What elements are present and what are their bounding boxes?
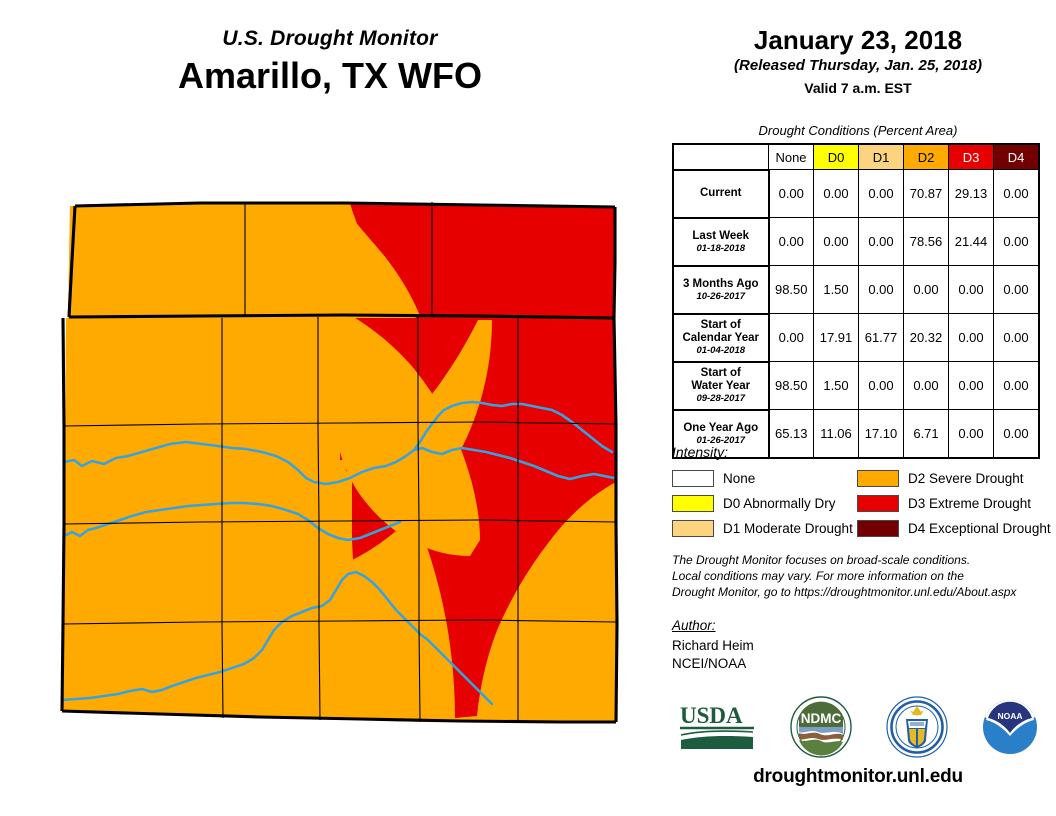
row-label-date: 01-18-2018 <box>676 243 766 254</box>
table-cell: 78.56 <box>904 218 949 266</box>
legend-swatch <box>672 495 714 512</box>
svg-text:USDA: USDA <box>680 703 743 728</box>
table-cell: 0.00 <box>814 170 859 218</box>
table-cell: 29.13 <box>949 170 994 218</box>
legend-entry-none: None <box>672 470 857 487</box>
table-cell: 0.00 <box>994 314 1040 362</box>
legend-swatch <box>672 520 714 537</box>
legend-label: None <box>723 471 755 486</box>
legend-entry-d4: D4 Exceptional Drought <box>857 520 1042 537</box>
table-cell: 17.91 <box>814 314 859 362</box>
table-col-header-d3: D3 <box>949 144 994 170</box>
table-row-label: 3 Months Ago10-26-2017 <box>673 266 769 314</box>
table-col-header-d2: D2 <box>904 144 949 170</box>
table-cell: 0.00 <box>769 218 814 266</box>
legend-swatch <box>857 495 899 512</box>
row-label-date: 01-04-2018 <box>676 345 766 356</box>
disclaimer-line-2: Local conditions may vary. For more info… <box>672 568 1052 584</box>
row-label-date: 09-28-2017 <box>676 393 766 404</box>
drought-conditions-table-wrap: NoneD0D1D2D3D4 Current0.000.000.0070.872… <box>672 143 1032 459</box>
disclaimer-line-1: The Drought Monitor focuses on broad-sca… <box>672 552 1052 568</box>
author-org: NCEI/NOAA <box>672 655 746 673</box>
table-cell: 98.50 <box>769 362 814 410</box>
row-label-date: 10-26-2017 <box>676 291 766 302</box>
table-header-row: NoneD0D1D2D3D4 <box>673 144 1039 170</box>
row-label-text: Last Week <box>692 230 749 242</box>
drought-map <box>0 0 660 816</box>
table-cell: 11.06 <box>814 410 859 458</box>
table-cell: 98.50 <box>769 266 814 314</box>
table-cell: 0.00 <box>949 266 994 314</box>
legend-row: NoneD2 Severe Drought <box>672 466 1042 491</box>
legend-swatch <box>672 470 714 487</box>
legend-label: D0 Abnormally Dry <box>723 496 836 511</box>
release-header: January 23, 2018 (Released Thursday, Jan… <box>660 24 1056 98</box>
svg-text:NOAA: NOAA <box>998 711 1023 721</box>
legend-entry-d0: D0 Abnormally Dry <box>672 495 857 512</box>
released-note: (Released Thursday, Jan. 25, 2018) <box>660 56 1056 76</box>
row-label-text: Start ofWater Year <box>691 367 750 392</box>
legend-label: D1 Moderate Drought <box>723 521 853 536</box>
disclaimer-text: The Drought Monitor focuses on broad-sca… <box>672 552 1052 600</box>
table-row: Current0.000.000.0070.8729.130.00 <box>673 170 1039 218</box>
row-label-text: 3 Months Ago <box>683 278 759 290</box>
table-body: Current0.000.000.0070.8729.130.00Last We… <box>673 170 1039 458</box>
table-cell: 20.32 <box>904 314 949 362</box>
table-cell: 1.50 <box>814 362 859 410</box>
usda-logo: USDA <box>677 701 757 753</box>
ndmc-logo: NDMC <box>790 696 852 758</box>
table-cell: 1.50 <box>814 266 859 314</box>
table-cell: 0.00 <box>859 218 904 266</box>
legend-swatch <box>857 520 899 537</box>
legend-entry-d1: D1 Moderate Drought <box>672 520 857 537</box>
table-cell: 0.00 <box>949 314 994 362</box>
legend-entry-d3: D3 Extreme Drought <box>857 495 1042 512</box>
valid-note: Valid 7 a.m. EST <box>660 78 1056 98</box>
table-col-header-d1: D1 <box>859 144 904 170</box>
noaa-logo: NOAA <box>981 698 1039 756</box>
table-cell: 65.13 <box>769 410 814 458</box>
legend-swatch <box>857 470 899 487</box>
table-row: Last Week01-18-20180.000.000.0078.5621.4… <box>673 218 1039 266</box>
table-row-label: Start ofCalendar Year01-04-2018 <box>673 314 769 362</box>
table-cell: 0.00 <box>994 266 1040 314</box>
table-cell: 0.00 <box>904 266 949 314</box>
table-cell: 0.00 <box>994 410 1040 458</box>
table-row: Start ofCalendar Year01-04-20180.0017.91… <box>673 314 1039 362</box>
table-cell: 61.77 <box>859 314 904 362</box>
row-label-text: One Year Ago <box>683 422 758 434</box>
author-label: Author: <box>672 618 716 633</box>
release-date: January 23, 2018 <box>660 24 1056 56</box>
table-cell: 0.00 <box>769 314 814 362</box>
table-col-header-d0: D0 <box>814 144 859 170</box>
table-row: 3 Months Ago10-26-201798.501.500.000.000… <box>673 266 1039 314</box>
legend-label: D3 Extreme Drought <box>908 496 1031 511</box>
intensity-label: Intensity: <box>672 444 728 460</box>
table-cell: 0.00 <box>904 362 949 410</box>
table-corner-cell <box>673 144 769 170</box>
legend-label: D2 Severe Drought <box>908 471 1024 486</box>
table-row-label: Start ofWater Year09-28-2017 <box>673 362 769 410</box>
site-url: droughtmonitor.unl.edu <box>660 766 1056 788</box>
legend-label: D4 Exceptional Drought <box>908 521 1051 536</box>
legend-row: D1 Moderate DroughtD4 Exceptional Drough… <box>672 516 1042 541</box>
disclaimer-line-3: Drought Monitor, go to https://droughtmo… <box>672 584 1052 600</box>
page-title: Amarillo, TX WFO <box>0 54 660 98</box>
table-cell: 0.00 <box>859 362 904 410</box>
table-col-header-none: None <box>769 144 814 170</box>
table-cell: 21.44 <box>949 218 994 266</box>
table-cell: 0.00 <box>949 362 994 410</box>
author-name: Richard Heim <box>672 637 754 655</box>
svg-text:NDMC: NDMC <box>801 711 842 726</box>
table-cell: 0.00 <box>994 170 1040 218</box>
table-cell: 0.00 <box>949 410 994 458</box>
legend-entry-d2: D2 Severe Drought <box>857 470 1042 487</box>
drought-conditions-table: NoneD0D1D2D3D4 Current0.000.000.0070.872… <box>672 143 1040 459</box>
table-row-label: Current <box>673 170 769 218</box>
table-cell: 70.87 <box>904 170 949 218</box>
table-cell: 17.10 <box>859 410 904 458</box>
usdc-seal <box>886 696 948 758</box>
table-cell: 0.00 <box>994 362 1040 410</box>
table-cell: 0.00 <box>769 170 814 218</box>
table-row: Start ofWater Year09-28-201798.501.500.0… <box>673 362 1039 410</box>
partner-logos: USDA NDMC NOAA <box>660 696 1056 758</box>
table-cell: 0.00 <box>859 170 904 218</box>
table-caption: Drought Conditions (Percent Area) <box>660 123 1056 138</box>
map-title-block: U.S. Drought Monitor Amarillo, TX WFO <box>0 26 660 98</box>
table-col-header-d4: D4 <box>994 144 1040 170</box>
table-cell: 6.71 <box>904 410 949 458</box>
table-cell: 0.00 <box>859 266 904 314</box>
dm-supertitle: U.S. Drought Monitor <box>0 26 660 52</box>
legend-row: D0 Abnormally DryD3 Extreme Drought <box>672 491 1042 516</box>
row-label-text: Start ofCalendar Year <box>682 319 759 344</box>
intensity-legend: NoneD2 Severe DroughtD0 Abnormally DryD3… <box>672 466 1042 541</box>
table-cell: 0.00 <box>814 218 859 266</box>
row-label-text: Current <box>700 187 742 199</box>
table-cell: 0.00 <box>994 218 1040 266</box>
table-row-label: Last Week01-18-2018 <box>673 218 769 266</box>
